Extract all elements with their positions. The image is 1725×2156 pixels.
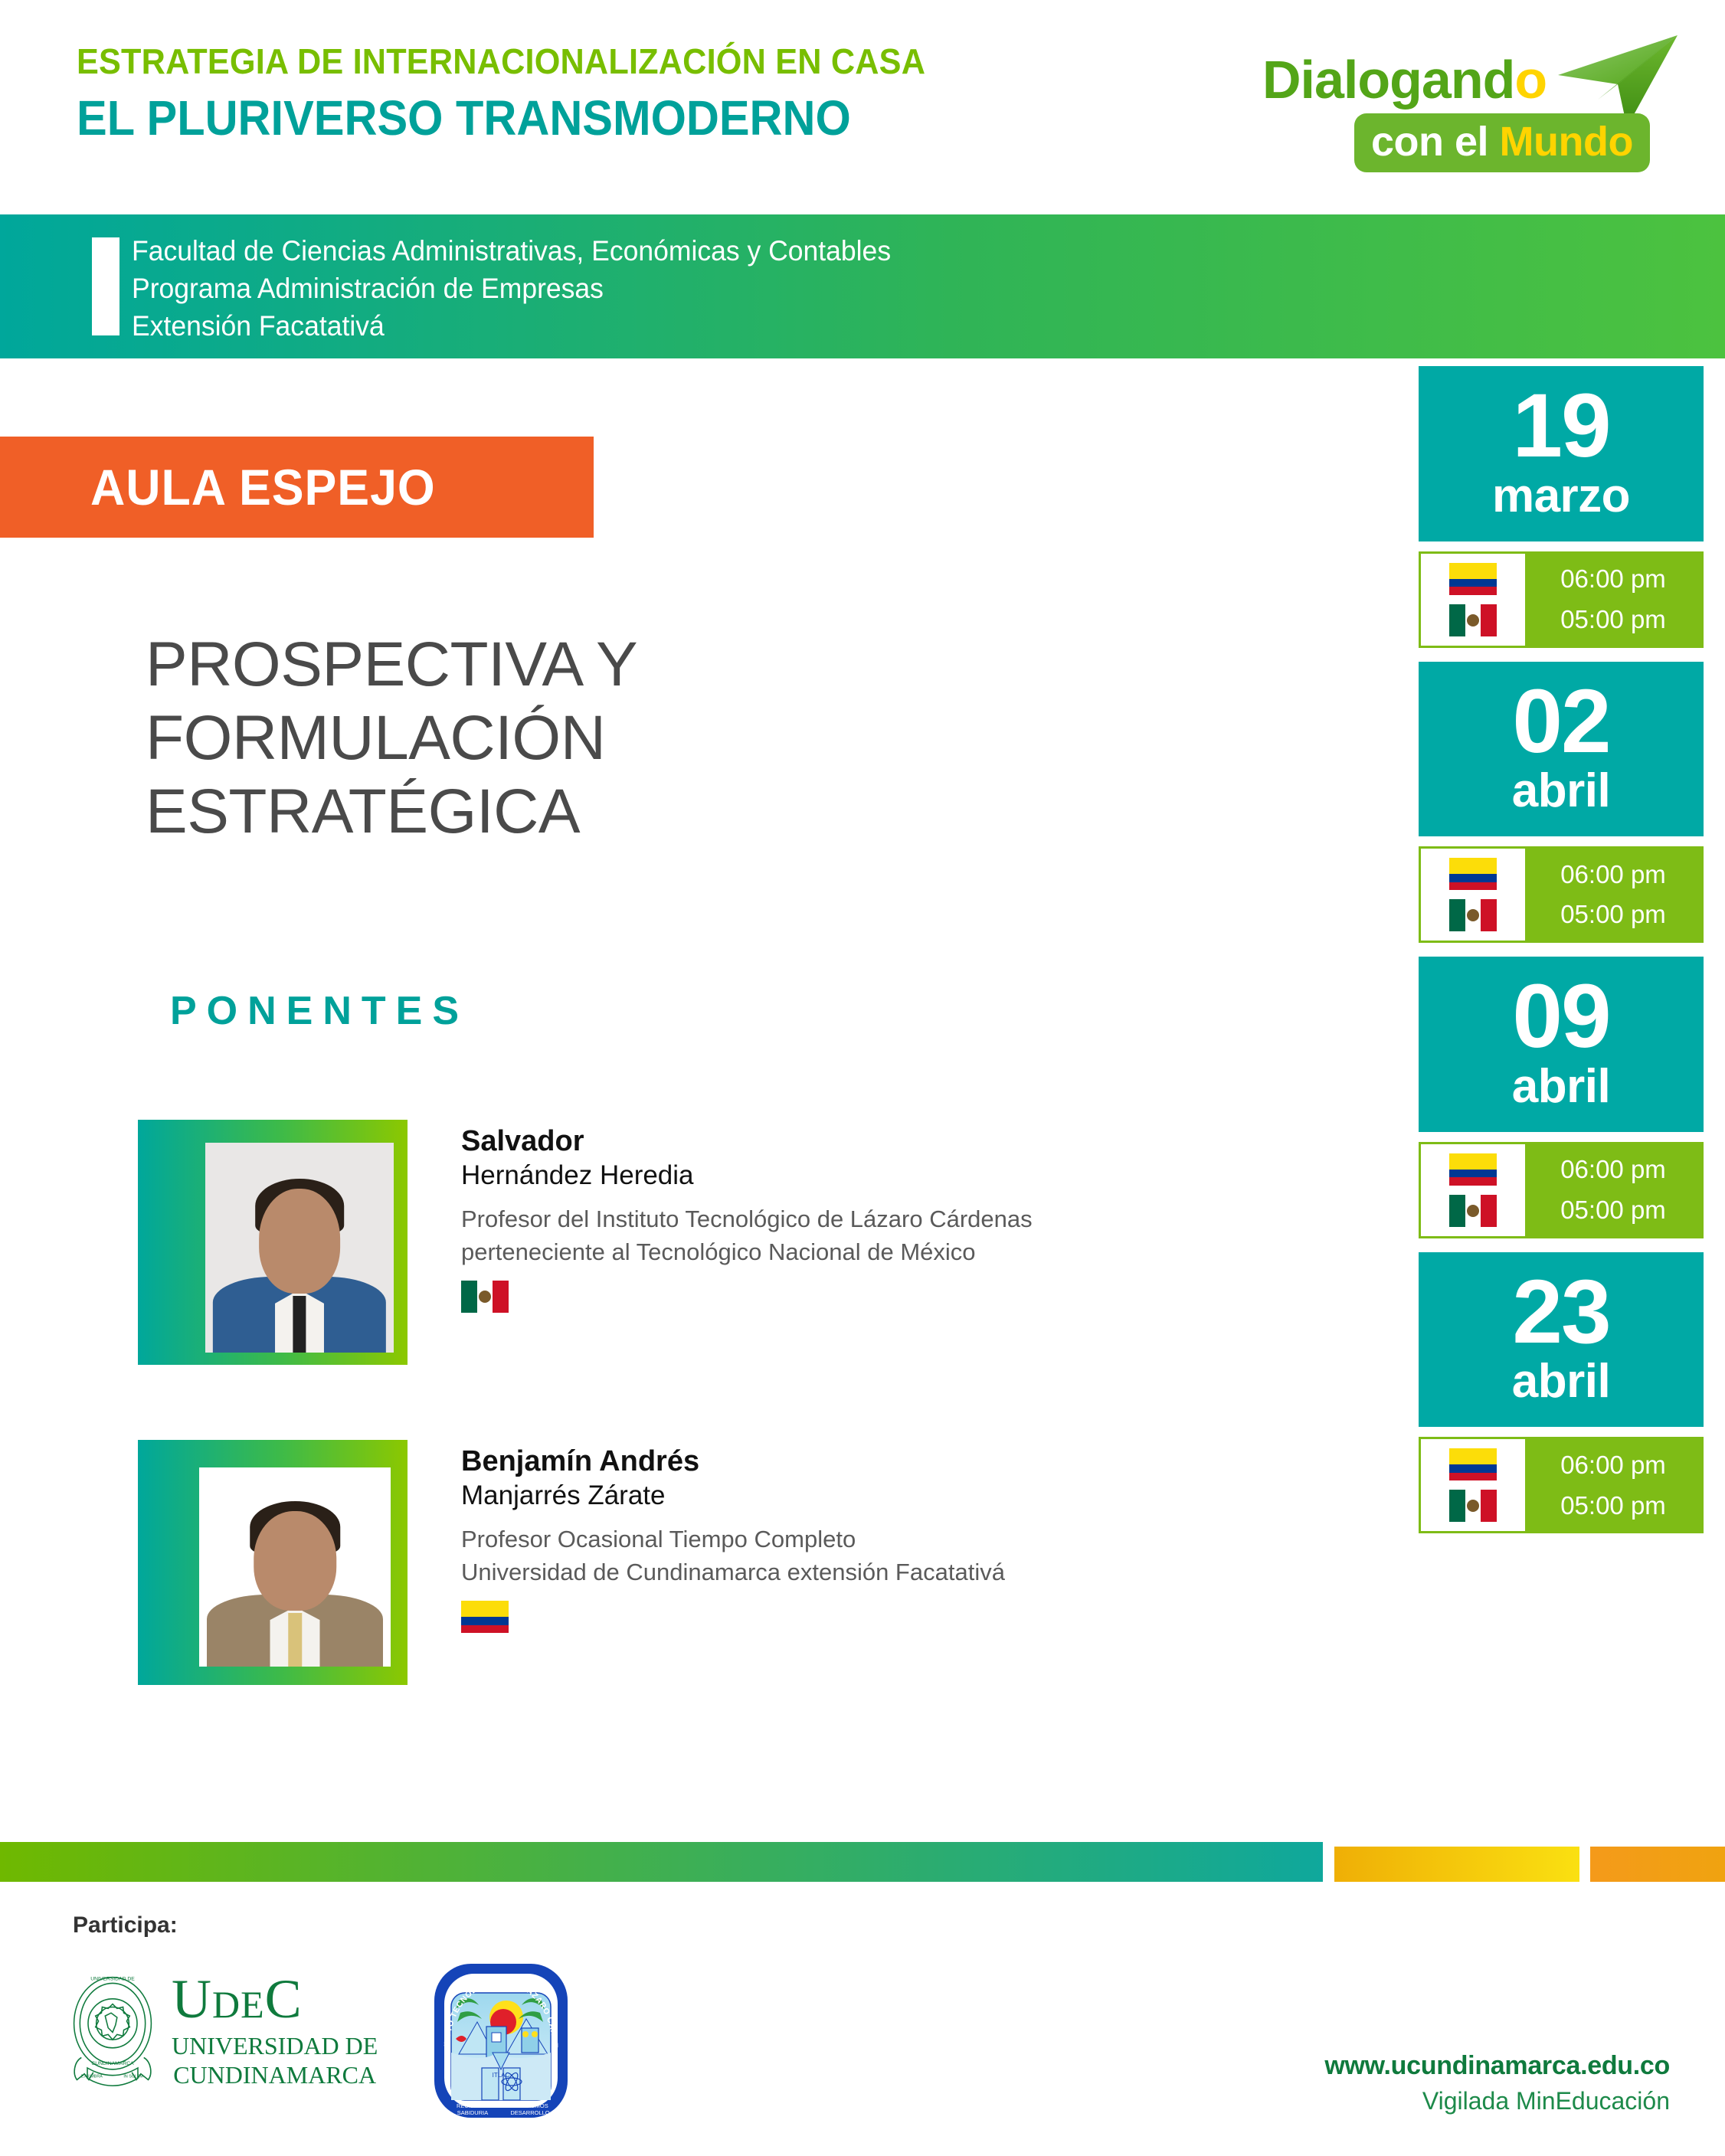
- speaker-avatar: [199, 1467, 391, 1667]
- session-times: 06:00 pm 05:00 pm: [1419, 1437, 1704, 1533]
- speaker-first-name: Benjamín Andrés: [461, 1444, 1005, 1479]
- itlac-bottom-left-1: RECIBIMOS: [457, 2102, 489, 2109]
- udec-seal-motto-left: EX UMBRA: [81, 2075, 103, 2079]
- itlac-bottom-left-2: SABIDURIA: [457, 2109, 488, 2116]
- aula-espejo-badge: AULA ESPEJO: [0, 437, 594, 538]
- time-mexico: 05:00 pm: [1560, 605, 1666, 634]
- aula-espejo-label: AULA ESPEJO: [90, 458, 436, 516]
- participa-label: Participa:: [73, 1912, 178, 1938]
- times-flag-column: [1421, 554, 1525, 646]
- colombia-flag-icon: [1449, 1153, 1497, 1186]
- portrait-tie: [288, 1613, 302, 1667]
- banner-line-extension: Extensión Facatativá: [132, 308, 891, 345]
- date-month: marzo: [1419, 473, 1704, 520]
- itlac-bottom-right-1: LEGAREMOS: [512, 2102, 548, 2109]
- speaker-country-flag: [461, 1281, 1033, 1313]
- speaker-photo-frame: [138, 1120, 408, 1365]
- speaker-card: Benjamín Andrés Manjarrés Zárate Profeso…: [138, 1440, 1226, 1685]
- brand-pill-prefix: con el: [1371, 119, 1500, 165]
- speaker-info: Salvador Hernández Heredia Profesor del …: [461, 1120, 1033, 1313]
- session-times: 06:00 pm 05:00 pm: [1419, 846, 1704, 943]
- mexico-flag-icon: [1449, 899, 1497, 931]
- vigilada-mineducacion-text: Vigilada MinEducación: [1324, 2087, 1670, 2115]
- udec-acronym-de: DE: [212, 1983, 265, 2026]
- date-month: abril: [1419, 1358, 1704, 1405]
- speaker-card: Salvador Hernández Heredia Profesor del …: [138, 1120, 1226, 1365]
- session-times: 06:00 pm 05:00 pm: [1419, 551, 1704, 648]
- date-block: 23 abril: [1419, 1252, 1704, 1428]
- time-colombia: 06:00 pm: [1560, 564, 1666, 594]
- times-value-column: 06:00 pm 05:00 pm: [1525, 1439, 1701, 1531]
- colombia-flag-icon: [1449, 563, 1497, 595]
- banner-line-faculty: Facultad de Ciencias Administrativas, Ec…: [132, 233, 891, 270]
- itlac-logo: INSTITUTO TECNOLOGICO DE LAZARO CARDENAS…: [433, 1962, 569, 2119]
- session-date-card: 02 abril 06:00 pm 05:00 pm: [1419, 662, 1704, 944]
- brand-pill-highlight: Mundo: [1500, 119, 1633, 165]
- header-main-title: EL PLURIVERSO TRANSMODERNO: [77, 91, 916, 146]
- banner-line-program: Programa Administración de Empresas: [132, 270, 891, 308]
- speaker-role-line-2: Universidad de Cundinamarca extensión Fa…: [461, 1556, 1005, 1589]
- header-title-group: ESTRATEGIA DE INTERNACIONALIZACIÓN EN CA…: [77, 42, 980, 146]
- mexico-flag-icon: [1449, 1490, 1497, 1522]
- speaker-photo-frame: [138, 1440, 408, 1685]
- udec-fullname-line-1: UNIVERSIDAD DE: [172, 2031, 378, 2060]
- itlac-bottom-right-2: DESARROLLO: [510, 2109, 549, 2116]
- speaker-role-line-1: Profesor Ocasional Tiempo Completo: [461, 1523, 1005, 1556]
- speaker-role: Profesor Ocasional Tiempo Completo Unive…: [461, 1523, 1005, 1589]
- date-day: 19: [1419, 384, 1704, 468]
- date-block: 09 abril: [1419, 957, 1704, 1132]
- udec-seal-bottom-text: CUNDINAMARCA: [91, 2061, 134, 2066]
- time-colombia: 06:00 pm: [1560, 860, 1666, 889]
- banner-accent-bar: [92, 237, 119, 335]
- event-title: PROSPECTIVA Y FORMULACIÓN ESTRATÉGICA: [146, 628, 988, 849]
- portrait-illustration: [205, 1143, 394, 1353]
- speaker-role-line-2: perteneciente al Tecnológico Nacional de…: [461, 1236, 1033, 1269]
- date-day: 23: [1419, 1271, 1704, 1354]
- session-date-card: 23 abril 06:00 pm 05:00 pm: [1419, 1252, 1704, 1534]
- udec-logo: UNIVERSIDAD DE CUNDINAMARCA EX UMBRA IN …: [67, 1970, 378, 2092]
- time-mexico: 05:00 pm: [1560, 1491, 1666, 1520]
- brand-tagline-pill: con el Mundo: [1354, 113, 1650, 172]
- session-date-card: 09 abril 06:00 pm 05:00 pm: [1419, 957, 1704, 1238]
- time-mexico: 05:00 pm: [1560, 1196, 1666, 1225]
- udec-seal-icon: UNIVERSIDAD DE CUNDINAMARCA EX UMBRA IN …: [67, 1970, 158, 2092]
- footer-stripe-orange: [1590, 1847, 1725, 1882]
- poster-header: ESTRATEGIA DE INTERNACIONALIZACIÓN EN CA…: [0, 0, 1725, 214]
- portrait-head: [259, 1189, 340, 1294]
- website-url[interactable]: www.ucundinamarca.edu.co: [1324, 2051, 1670, 2081]
- footer-stripe-green: [0, 1842, 1323, 1882]
- session-dates-column: 19 marzo 06:00 pm 05:00 pm 02 abril: [1419, 366, 1704, 1547]
- dialogando-con-el-mundo-logo: Dialogando con el Mundo: [1256, 20, 1685, 188]
- brand-wordmark: Dialogando: [1262, 49, 1547, 110]
- mexico-flag-icon: [1449, 604, 1497, 636]
- portrait-head: [254, 1511, 336, 1611]
- date-month: abril: [1419, 767, 1704, 815]
- date-month: abril: [1419, 1063, 1704, 1111]
- times-value-column: 06:00 pm 05:00 pm: [1525, 1144, 1701, 1236]
- portrait-tie: [293, 1296, 306, 1353]
- times-value-column: 06:00 pm 05:00 pm: [1525, 849, 1701, 941]
- footer-website-block: www.ucundinamarca.edu.co Vigilada MinEdu…: [1324, 2051, 1670, 2115]
- speaker-role: Profesor del Instituto Tecnológico de Lá…: [461, 1203, 1033, 1269]
- speaker-role-line-1: Profesor del Instituto Tecnológico de Lá…: [461, 1203, 1033, 1236]
- brand-word-main: Dialogand: [1262, 50, 1514, 110]
- itlac-center-text: ITLAC: [493, 2072, 510, 2079]
- speaker-avatar: [205, 1143, 394, 1353]
- udec-fullname-line-2: CUNDINAMARCA: [172, 2060, 378, 2089]
- times-flag-column: [1421, 1439, 1525, 1531]
- date-day: 02: [1419, 680, 1704, 764]
- session-date-card: 19 marzo 06:00 pm 05:00 pm: [1419, 366, 1704, 648]
- date-block: 19 marzo: [1419, 366, 1704, 541]
- mexico-flag-icon: [1449, 1195, 1497, 1227]
- times-flag-column: [1421, 849, 1525, 941]
- time-colombia: 06:00 pm: [1560, 1451, 1666, 1480]
- faculty-banner: Facultad de Ciencias Administrativas, Ec…: [0, 214, 1725, 358]
- udec-wordmark: UDEC UNIVERSIDAD DE CUNDINAMARCA: [172, 1972, 378, 2089]
- date-day: 09: [1419, 975, 1704, 1058]
- speaker-first-name: Salvador: [461, 1124, 1033, 1159]
- speaker-last-name: Hernández Heredia: [461, 1159, 1033, 1193]
- speaker-last-name: Manjarrés Zárate: [461, 1479, 1005, 1513]
- colombia-flag-icon: [461, 1601, 509, 1633]
- speaker-info: Benjamín Andrés Manjarrés Zárate Profeso…: [461, 1440, 1005, 1633]
- mexico-flag-icon: [461, 1281, 509, 1313]
- header-eyebrow: ESTRATEGIA DE INTERNACIONALIZACIÓN EN CA…: [77, 42, 925, 82]
- ponentes-heading: PONENTES: [170, 988, 469, 1034]
- times-value-column: 06:00 pm 05:00 pm: [1525, 554, 1701, 646]
- times-flag-column: [1421, 1144, 1525, 1236]
- time-mexico: 05:00 pm: [1560, 900, 1666, 929]
- brand-word-highlight: o: [1514, 50, 1547, 110]
- session-times: 06:00 pm 05:00 pm: [1419, 1142, 1704, 1238]
- banner-text-group: Facultad de Ciencias Administrativas, Ec…: [132, 233, 891, 345]
- udec-seal-motto-right: IN SOLEM: [123, 2075, 142, 2079]
- colombia-flag-icon: [1449, 858, 1497, 890]
- udec-seal-top-text: UNIVERSIDAD DE: [90, 1977, 135, 1982]
- udec-acronym-c: C: [265, 1968, 303, 2030]
- footer-stripe-yellow: [1334, 1847, 1579, 1882]
- speaker-country-flag: [461, 1601, 1005, 1633]
- date-block: 02 abril: [1419, 662, 1704, 837]
- time-colombia: 06:00 pm: [1560, 1155, 1666, 1184]
- udec-fullname: UNIVERSIDAD DE CUNDINAMARCA: [172, 2031, 378, 2090]
- udec-acronym: UDEC: [172, 1972, 378, 2027]
- colombia-flag-icon: [1449, 1448, 1497, 1480]
- udec-acronym-u: U: [172, 1968, 212, 2030]
- portrait-illustration: [199, 1467, 391, 1667]
